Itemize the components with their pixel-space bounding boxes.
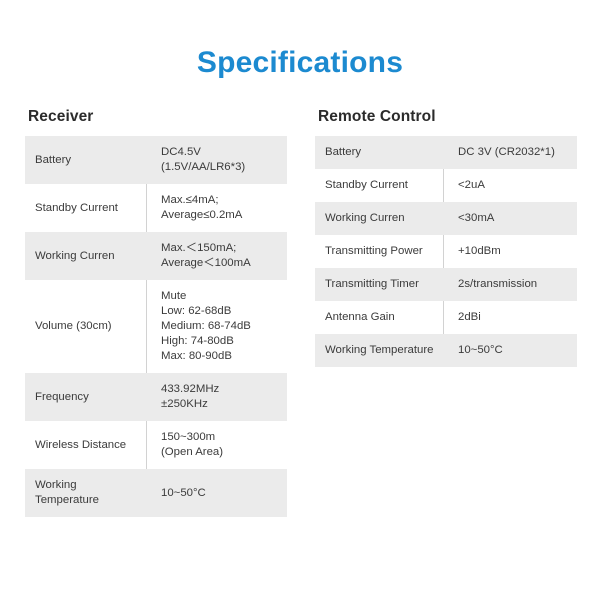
spec-label: Transmitting Timer [315, 268, 444, 301]
table-row: Volume (30cm)MuteLow: 62-68dBMedium: 68-… [25, 280, 287, 373]
spec-value-line: 150~300m [161, 430, 281, 445]
spec-value-line: 2s/transmission [458, 277, 571, 292]
receiver-heading: Receiver [28, 107, 287, 127]
spec-label: Volume (30cm) [25, 280, 147, 373]
spec-value-line: Medium: 68-74dB [161, 319, 281, 334]
spec-value: +10dBm [444, 235, 578, 268]
spec-value-line: (Open Area) [161, 445, 281, 460]
spec-value-line: <30mA [458, 211, 571, 226]
spec-value: DC 3V (CR2032*1) [444, 136, 578, 169]
table-row: Transmitting Timer2s/transmission [315, 268, 577, 301]
spec-value: 433.92MHz±250KHz [147, 373, 288, 421]
table-row: Working Temperature10~50°C [25, 469, 287, 517]
spec-value: Max.＜150mA;Average＜100mA [147, 232, 288, 280]
table-row: Wireless Distance150~300m(Open Area) [25, 421, 287, 469]
spec-label: Frequency [25, 373, 147, 421]
receiver-spec-table: BatteryDC4.5V(1.5V/AA/LR6*3)Standby Curr… [25, 136, 287, 517]
spec-label: Working Curren [25, 232, 147, 280]
spec-value: 2s/transmission [444, 268, 578, 301]
spec-value-line: Mute [161, 289, 281, 304]
spec-value-line: 10~50°C [161, 486, 281, 501]
spec-value-line: Max.＜150mA; [161, 241, 281, 256]
spec-value-line: Max: 80-90dB [161, 349, 281, 364]
spec-value-line: 433.92MHz [161, 382, 281, 397]
spec-label: Battery [25, 136, 147, 184]
table-row: Frequency433.92MHz±250KHz [25, 373, 287, 421]
table-row: Working Temperature10~50°C [315, 334, 577, 367]
spec-label: Working Temperature [315, 334, 444, 367]
spec-value-line: (1.5V/AA/LR6*3) [161, 160, 281, 175]
table-row: Standby Current<2uA [315, 169, 577, 202]
spec-value-line: DC4.5V [161, 145, 281, 160]
spec-value: DC4.5V(1.5V/AA/LR6*3) [147, 136, 288, 184]
spec-value: 10~50°C [147, 469, 288, 517]
receiver-table-body: BatteryDC4.5V(1.5V/AA/LR6*3)Standby Curr… [25, 136, 287, 517]
spec-value-line: ±250KHz [161, 397, 281, 412]
spec-value: 2dBi [444, 301, 578, 334]
spec-value-line: DC 3V (CR2032*1) [458, 145, 571, 160]
spec-value: 10~50°C [444, 334, 578, 367]
spec-label: Wireless Distance [25, 421, 147, 469]
spec-label: Working Temperature [25, 469, 147, 517]
spec-value-line: +10dBm [458, 244, 571, 259]
spec-value-line: High: 74-80dB [161, 334, 281, 349]
spec-tables-container: Receiver BatteryDC4.5V(1.5V/AA/LR6*3)Sta… [0, 107, 600, 517]
remote-heading: Remote Control [318, 107, 577, 127]
table-row: Antenna Gain2dBi [315, 301, 577, 334]
remote-spec-table: BatteryDC 3V (CR2032*1)Standby Current<2… [315, 136, 577, 367]
page-title: Specifications [0, 0, 600, 81]
spec-label: Standby Current [25, 184, 147, 232]
remote-column: Remote Control BatteryDC 3V (CR2032*1)St… [315, 107, 577, 367]
spec-label: Working Curren [315, 202, 444, 235]
receiver-column: Receiver BatteryDC4.5V(1.5V/AA/LR6*3)Sta… [25, 107, 287, 517]
spec-label: Transmitting Power [315, 235, 444, 268]
spec-value: <30mA [444, 202, 578, 235]
spec-value: 150~300m(Open Area) [147, 421, 288, 469]
spec-value: <2uA [444, 169, 578, 202]
specifications-page: Specifications Receiver BatteryDC4.5V(1.… [0, 0, 600, 600]
spec-value-line: Average＜100mA [161, 256, 281, 271]
spec-label: Antenna Gain [315, 301, 444, 334]
spec-value-line: 10~50°C [458, 343, 571, 358]
spec-value: Max.≤4mA;Average≤0.2mA [147, 184, 288, 232]
spec-value: MuteLow: 62-68dBMedium: 68-74dBHigh: 74-… [147, 280, 288, 373]
remote-table-body: BatteryDC 3V (CR2032*1)Standby Current<2… [315, 136, 577, 367]
spec-value-line: Max.≤4mA; [161, 193, 281, 208]
spec-value-line: 2dBi [458, 310, 571, 325]
table-row: Transmitting Power+10dBm [315, 235, 577, 268]
table-row: Working Curren<30mA [315, 202, 577, 235]
table-row: BatteryDC 3V (CR2032*1) [315, 136, 577, 169]
table-row: BatteryDC4.5V(1.5V/AA/LR6*3) [25, 136, 287, 184]
table-row: Standby CurrentMax.≤4mA;Average≤0.2mA [25, 184, 287, 232]
spec-label: Standby Current [315, 169, 444, 202]
spec-value-line: <2uA [458, 178, 571, 193]
table-row: Working CurrenMax.＜150mA;Average＜100mA [25, 232, 287, 280]
spec-label: Battery [315, 136, 444, 169]
spec-value-line: Average≤0.2mA [161, 208, 281, 223]
spec-value-line: Low: 62-68dB [161, 304, 281, 319]
